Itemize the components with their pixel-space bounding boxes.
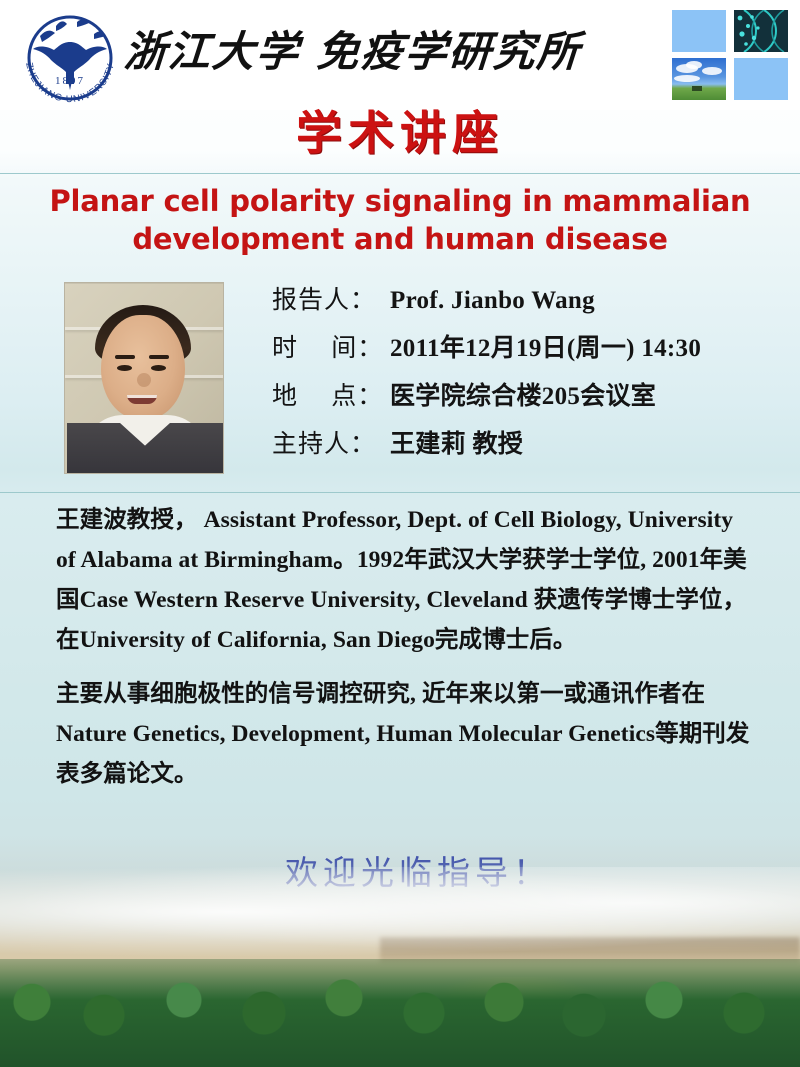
event-details: 报告人： Prof. Jianbo Wang 时 间： 2011年12月19日(… — [272, 280, 772, 472]
detail-row-host: 主持人： 王建莉 教授 — [272, 424, 772, 472]
detail-label-host: 主持人： — [272, 424, 390, 460]
bio-paragraph: 王建波教授， Assistant Professor, Dept. of Cel… — [56, 500, 756, 660]
portrait-eye — [151, 365, 166, 371]
plain-blue-tile-icon — [672, 10, 726, 52]
portrait-mouth — [127, 395, 157, 404]
detail-label-location: 地 点： — [272, 376, 390, 412]
divider-middle — [0, 492, 800, 493]
misty-lake-landscape — [0, 837, 800, 1067]
sky-field-tile-icon — [672, 58, 726, 100]
detail-value-time: 2011年12月19日(周一) 14:30 — [390, 328, 701, 364]
decorative-image-grid — [672, 10, 790, 102]
english-title: Planar cell polarity signaling in mammal… — [14, 182, 786, 258]
portrait-eye — [117, 365, 132, 371]
speaker-biography: 王建波教授， Assistant Professor, Dept. of Cel… — [56, 500, 756, 808]
detail-row-location: 地 点： 医学院综合楼205会议室 — [272, 376, 772, 424]
portrait-nose — [137, 373, 151, 387]
detail-label-time: 时 间： — [272, 328, 390, 364]
detail-row-speaker: 报告人： Prof. Jianbo Wang — [272, 280, 772, 328]
organization-name: 浙江大学 免疫学研究所 — [121, 16, 596, 90]
bio-paragraph: 主要从事细胞极性的信号调控研究, 近年来以第一或通讯作者在Nature Gene… — [56, 674, 756, 794]
zhejiang-university-logo: 1897 ZHEJIANG UNIVERSITY — [14, 6, 126, 104]
portrait-brow — [115, 355, 135, 359]
speaker-portrait — [64, 282, 224, 474]
logo-year: 1897 — [55, 75, 85, 87]
divider-top — [0, 173, 800, 174]
portrait-brow — [149, 355, 169, 359]
detail-value-location: 医学院综合楼205会议室 — [390, 376, 656, 412]
detail-value-host: 王建莉 教授 — [390, 424, 523, 460]
poster-header: 1897 ZHEJIANG UNIVERSITY 浙江大学 免疫学研究所 — [0, 0, 800, 110]
seminar-poster: 1897 ZHEJIANG UNIVERSITY 浙江大学 免疫学研究所 — [0, 0, 800, 1067]
plain-blue-tile-icon — [734, 58, 788, 100]
detail-row-time: 时 间： 2011年12月19日(周一) 14:30 — [272, 328, 772, 376]
chinese-title: 学术讲座 — [0, 104, 800, 162]
detail-value-speaker: Prof. Jianbo Wang — [390, 287, 595, 315]
mist-layer — [0, 867, 800, 957]
dna-helix-tile-icon — [734, 10, 788, 52]
foreground-foliage — [0, 959, 800, 1067]
detail-label-speaker: 报告人： — [272, 280, 390, 316]
